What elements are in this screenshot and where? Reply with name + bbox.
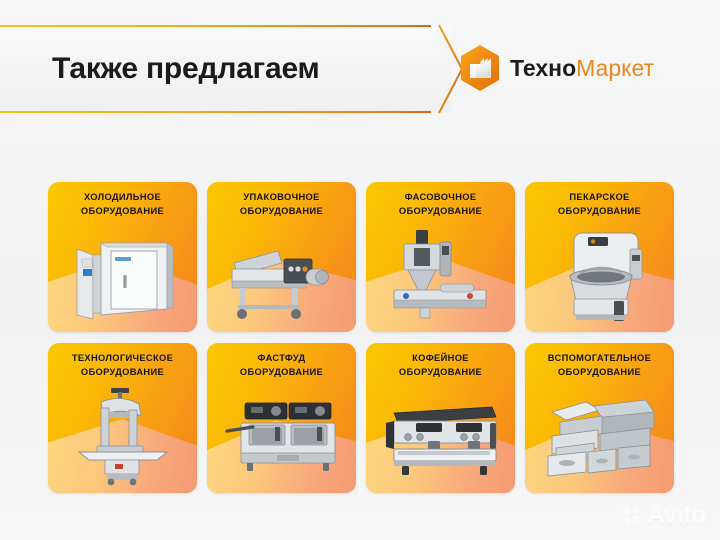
band-saw-photo bbox=[48, 383, 197, 489]
card-title: КОФЕЙНОЕ ОБОРУДОВАНИЕ bbox=[371, 352, 510, 379]
filling-dosing-machine-photo bbox=[366, 222, 515, 328]
category-card-fastfood-equipment[interactable]: ФАСТФУД ОБОРУДОВАНИЕ bbox=[207, 343, 356, 493]
avito-dots-icon bbox=[621, 505, 643, 527]
brand-logo[interactable]: ТехноМаркет bbox=[458, 42, 654, 94]
avito-watermark-label: Avito bbox=[647, 503, 706, 528]
gastronorm-pans-photo bbox=[525, 383, 674, 489]
card-title: ПЕКАРСКОЕ ОБОРУДОВАНИЕ bbox=[530, 191, 669, 218]
category-card-grid: ХОЛОДИЛЬНОЕ ОБОРУДОВАНИЕ bbox=[48, 182, 673, 493]
category-card-technological-equipment[interactable]: ТЕХНОЛОГИЧЕСКОЕ ОБОРУДОВАНИЕ bbox=[48, 343, 197, 493]
category-card-filling-equipment[interactable]: ФАСОВОЧНОЕ ОБОРУДОВАНИЕ bbox=[366, 182, 515, 332]
cold-room-chamber-photo bbox=[48, 222, 197, 328]
card-title: ФАСОВОЧНОЕ ОБОРУДОВАНИЕ bbox=[371, 191, 510, 218]
category-card-packing-equipment[interactable]: УПАКОВОЧНОЕ ОБОРУДОВАНИЕ bbox=[207, 182, 356, 332]
category-card-auxiliary-equipment[interactable]: ВСПОМОГАТЕЛЬНОЕ ОБОРУДОВАНИЕ bbox=[525, 343, 674, 493]
category-card-coffee-equipment[interactable]: КОФЕЙНОЕ ОБОРУДОВАНИЕ bbox=[366, 343, 515, 493]
espresso-coffee-machine-photo bbox=[366, 383, 515, 489]
category-card-cold-equipment[interactable]: ХОЛОДИЛЬНОЕ ОБОРУДОВАНИЕ bbox=[48, 182, 197, 332]
card-title: ФАСТФУД ОБОРУДОВАНИЕ bbox=[212, 352, 351, 379]
card-title: ВСПОМОГАТЕЛЬНОЕ ОБОРУДОВАНИЕ bbox=[530, 352, 669, 379]
card-title: ТЕХНОЛОГИЧЕСКОЕ ОБОРУДОВАНИЕ bbox=[53, 352, 192, 379]
card-title: ХОЛОДИЛЬНОЕ ОБОРУДОВАНИЕ bbox=[53, 191, 192, 218]
banner-bottom-border bbox=[0, 111, 431, 113]
double-deep-fryer-photo bbox=[207, 383, 356, 489]
brand-logo-text: ТехноМаркет bbox=[510, 57, 654, 80]
category-card-bakery-equipment[interactable]: ПЕКАРСКОЕ ОБОРУДОВАНИЕ bbox=[525, 182, 674, 332]
card-title: УПАКОВОЧНОЕ ОБОРУДОВАНИЕ bbox=[212, 191, 351, 218]
header-banner: Также предлагаем bbox=[0, 25, 452, 113]
brand-name-secondary: Маркет bbox=[576, 55, 654, 81]
page-root: Также предлагаем bbox=[0, 0, 720, 540]
page-title: Также предлагаем bbox=[52, 52, 320, 86]
hexagon-factory-logo-icon bbox=[458, 44, 502, 92]
brand-name-primary: Техно bbox=[510, 55, 576, 81]
avito-watermark: Avito bbox=[621, 503, 706, 528]
banner-top-border bbox=[0, 25, 431, 27]
spiral-dough-mixer-photo bbox=[525, 222, 674, 328]
shrink-wrap-packer-photo bbox=[207, 222, 356, 328]
